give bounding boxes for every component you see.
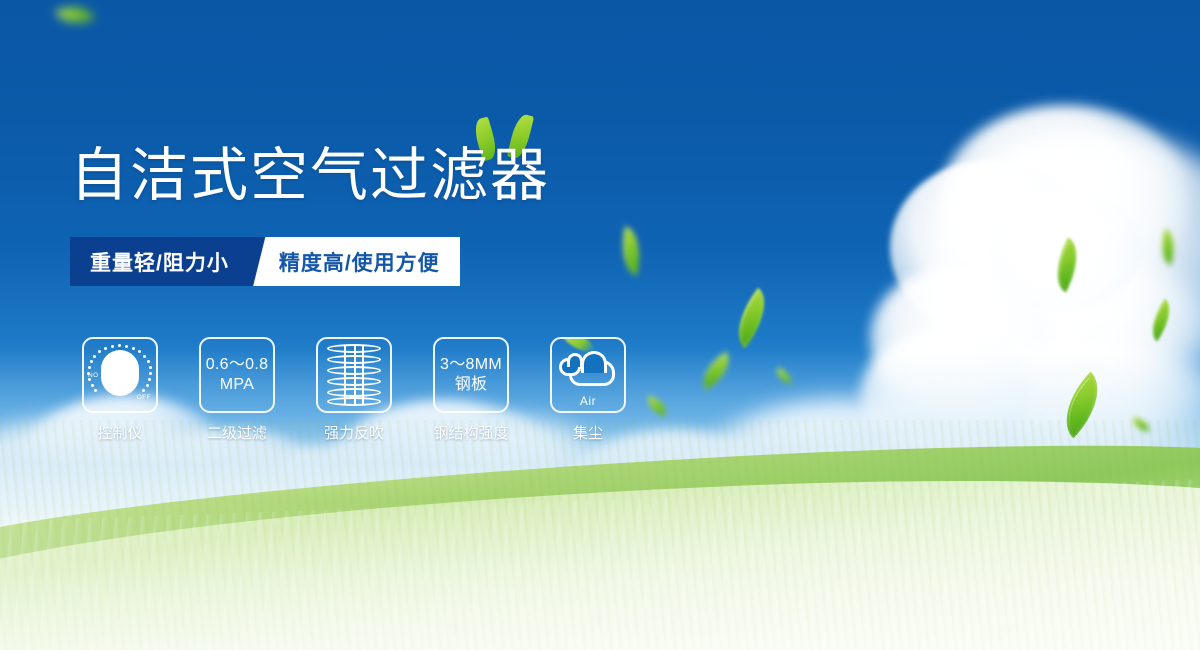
subtitle-right-segment: 精度高/使用方便 <box>273 237 460 286</box>
cloud-shape <box>940 105 1190 295</box>
leaf-blade <box>644 395 669 416</box>
page-title: 自洁式空气过滤器 <box>70 146 550 207</box>
cloud-shape <box>890 160 1090 335</box>
feature-label: 控制仪 <box>97 422 142 443</box>
feature-icon-box <box>316 337 392 413</box>
steel-line-2: 钢板 <box>440 375 502 395</box>
leaf-decoration <box>773 367 794 384</box>
subtitle-bar: 重量轻/阻力小 精度高/使用方便 <box>70 237 460 286</box>
leaf-blade <box>1045 237 1090 292</box>
feature-item-back-blow[interactable]: 强力反吹 <box>316 337 392 443</box>
pressure-line-2: MPA <box>206 375 269 395</box>
leaf-blade <box>694 352 738 391</box>
feature-icon-box: 0.6～0.8 MPA <box>199 337 275 413</box>
steel-line-1: 3～8MM <box>440 355 502 375</box>
feature-label: 二级过滤 <box>207 422 267 443</box>
cloud-shape <box>930 130 1200 380</box>
grass-highlight <box>0 500 1200 650</box>
feature-label: 集尘 <box>573 422 603 443</box>
leaf-decoration <box>724 288 780 349</box>
air-label: Air <box>555 394 621 408</box>
leaf-vein <box>698 355 735 388</box>
feature-icon-box: NO OFF <box>82 337 158 413</box>
leaf-blade <box>773 367 794 384</box>
cloud-shape <box>990 190 1140 310</box>
feature-icon-box: Air <box>550 337 626 413</box>
leaf-decoration <box>644 395 669 416</box>
feature-label: 钢结构强度 <box>433 422 508 443</box>
leaf-decoration <box>694 352 738 391</box>
leaf-blade <box>1142 298 1179 341</box>
leaf-vein <box>728 292 775 343</box>
filter-stack-icon <box>327 344 381 406</box>
leaf-blade <box>724 288 780 349</box>
leaf-vein <box>1048 242 1086 289</box>
leaf-blade <box>55 0 95 32</box>
subtitle-divider-slash <box>247 237 273 286</box>
pressure-text-icon: 0.6～0.8 MPA <box>206 355 269 394</box>
feature-label: 强力反吹 <box>324 422 384 443</box>
leaf-decoration <box>615 226 646 276</box>
leaf-decoration <box>1142 298 1179 341</box>
air-cloud-icon: Air <box>555 344 621 406</box>
feature-item-controller[interactable]: NO OFF 控制仪 <box>82 337 158 443</box>
gauge-needle <box>101 350 139 396</box>
leaf-vein <box>1145 302 1176 338</box>
steel-plate-text-icon: 3～8MM 钢板 <box>440 355 502 394</box>
gauge-off-label: OFF <box>137 394 151 401</box>
cloud-small-bump <box>567 353 583 367</box>
grass-field <box>0 420 1200 650</box>
cloud-shape <box>870 265 1050 410</box>
leaf-vein <box>618 230 644 272</box>
leaf-decoration <box>1045 237 1090 292</box>
feature-item-steel-strength[interactable]: 3～8MM 钢板 钢结构强度 <box>433 337 509 443</box>
feature-list: NO OFF 控制仪 0.6～0.8 MPA 二级过滤 <box>82 337 626 443</box>
leaf-decoration <box>1156 228 1181 265</box>
product-hero-banner: 自洁式空气过滤器 重量轻/阻力小 精度高/使用方便 <box>0 0 1200 650</box>
cloud-bump <box>581 351 607 373</box>
leaf-vein <box>58 1 91 29</box>
gauge-on-label: NO <box>88 372 99 379</box>
leaf-decoration <box>55 0 95 32</box>
feature-item-dust-collection[interactable]: Air 集尘 <box>550 337 626 443</box>
pressure-line-1: 0.6～0.8 <box>206 355 269 375</box>
subtitle-left-segment: 重量轻/阻力小 <box>70 237 247 286</box>
feature-icon-box: 3～8MM 钢板 <box>433 337 509 413</box>
leaf-blade <box>1156 228 1181 265</box>
leaf-blade <box>615 226 646 276</box>
feature-item-secondary-filter[interactable]: 0.6～0.8 MPA 二级过滤 <box>199 337 275 443</box>
gauge-icon: NO OFF <box>87 343 153 407</box>
